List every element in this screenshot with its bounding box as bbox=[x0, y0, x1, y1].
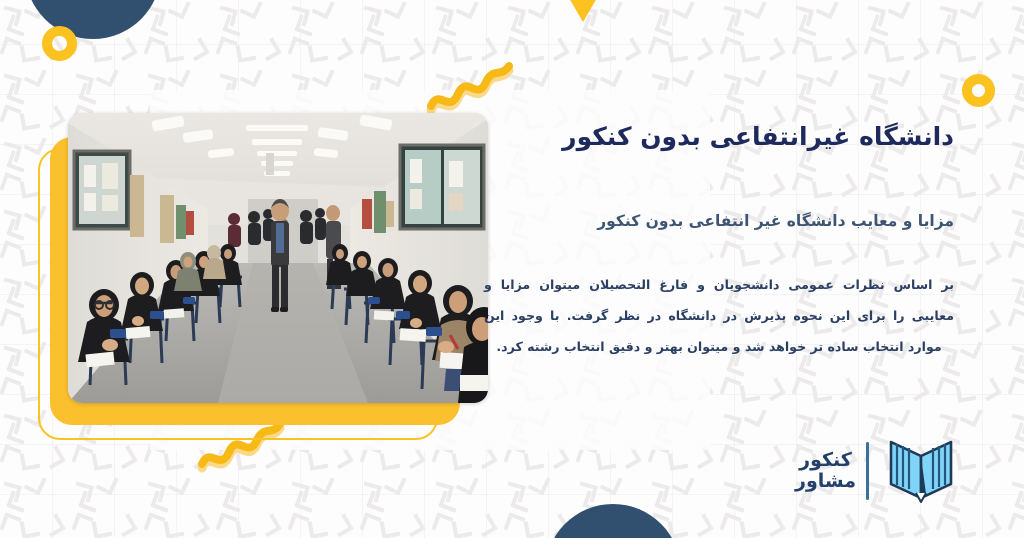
yellow-triangle-top bbox=[569, 0, 597, 22]
exam-hall-photo bbox=[68, 113, 488, 403]
yellow-ring-top-right bbox=[962, 74, 995, 107]
logo-wordmark: کنکور مشاور bbox=[793, 450, 856, 493]
logo-divider bbox=[866, 442, 869, 500]
open-book-icon bbox=[879, 438, 963, 504]
yellow-ring-top-left bbox=[42, 26, 77, 61]
banner-canvas: دانشگاه غیرانتفاعی بدون کنکور مزایا و مع… bbox=[0, 0, 1024, 538]
yellow-squiggle-upper bbox=[425, 62, 520, 117]
logo-line-1: کنکور bbox=[799, 450, 852, 471]
brand-logo[interactable]: کنکور مشاور bbox=[793, 432, 973, 510]
page-title: دانشگاه غیرانتفاعی بدون کنکور bbox=[484, 120, 954, 154]
logo-line-2: مشاور bbox=[795, 471, 856, 492]
body-paragraph: بر اساس نظرات عمومی دانشجویان و فارغ الت… bbox=[484, 270, 954, 363]
text-column: دانشگاه غیرانتفاعی بدون کنکور مزایا و مع… bbox=[484, 120, 954, 363]
page-subtitle: مزایا و معایب دانشگاه غیر انتفاعی بدون ک… bbox=[484, 211, 954, 233]
